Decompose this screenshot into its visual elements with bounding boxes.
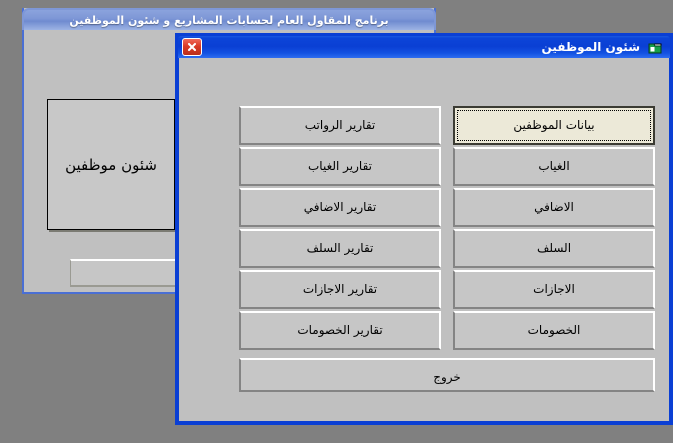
background-window-titlebar[interactable]: برنامج المقاول العام لحسابات المشاريع و … <box>22 8 436 30</box>
button-salary-reports[interactable]: تقارير الرواتب <box>239 106 441 145</box>
background-window-title: برنامج المقاول العام لحسابات المشاريع و … <box>69 14 388 27</box>
button-advances-reports[interactable]: تقارير السلف <box>239 229 441 268</box>
employees-dialog-titlebar[interactable]: شئون الموظفين <box>175 33 673 58</box>
button-overtime-reports[interactable]: تقارير الاضافي <box>239 188 441 227</box>
button-leaves-reports[interactable]: تقارير الاجازات <box>239 270 441 309</box>
primary-button-column: بيانات الموظفين الغياب الاضافي السلف الا… <box>453 106 655 352</box>
employees-dialog-client: بيانات الموظفين الغياب الاضافي السلف الا… <box>179 58 669 421</box>
employees-affairs-button[interactable]: شئون موظفين <box>47 99 175 230</box>
background-empty-panel <box>70 259 180 287</box>
reports-button-column: تقارير الرواتب تقارير الغياب تقارير الاض… <box>239 106 441 352</box>
button-overtime[interactable]: الاضافي <box>453 188 655 227</box>
button-absence[interactable]: الغياب <box>453 147 655 186</box>
button-absence-reports[interactable]: تقارير الغياب <box>239 147 441 186</box>
button-employee-data[interactable]: بيانات الموظفين <box>453 106 655 145</box>
employees-dialog-title: شئون الموظفين <box>542 40 640 54</box>
folder-window-icon <box>648 40 663 54</box>
button-deductions-reports[interactable]: تقارير الخصومات <box>239 311 441 350</box>
button-advances[interactable]: السلف <box>453 229 655 268</box>
button-leaves[interactable]: الاجازات <box>453 270 655 309</box>
close-icon[interactable] <box>182 38 202 56</box>
button-deductions[interactable]: الخصومات <box>453 311 655 350</box>
exit-button[interactable]: خروج <box>239 358 655 392</box>
